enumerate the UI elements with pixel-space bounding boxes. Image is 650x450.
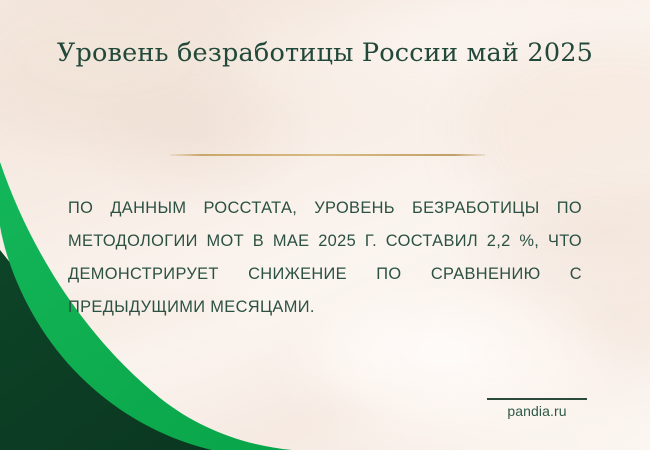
body-paragraph: ПО ДАННЫМ РОССТАТА, УРОВЕНЬ БЕЗРАБОТИЦЫ …	[68, 192, 582, 324]
footer-attribution: pandia.ru	[487, 398, 587, 419]
footer-divider-rule	[487, 398, 587, 400]
page-title: Уровень безработицы России май 2025	[0, 38, 650, 68]
title-divider-rule	[170, 154, 485, 156]
slide-content: Уровень безработицы России май 2025 ПО Д…	[0, 0, 650, 450]
source-watermark-label: pandia.ru	[487, 403, 587, 419]
slide-canvas: Уровень безработицы России май 2025 ПО Д…	[0, 0, 650, 450]
